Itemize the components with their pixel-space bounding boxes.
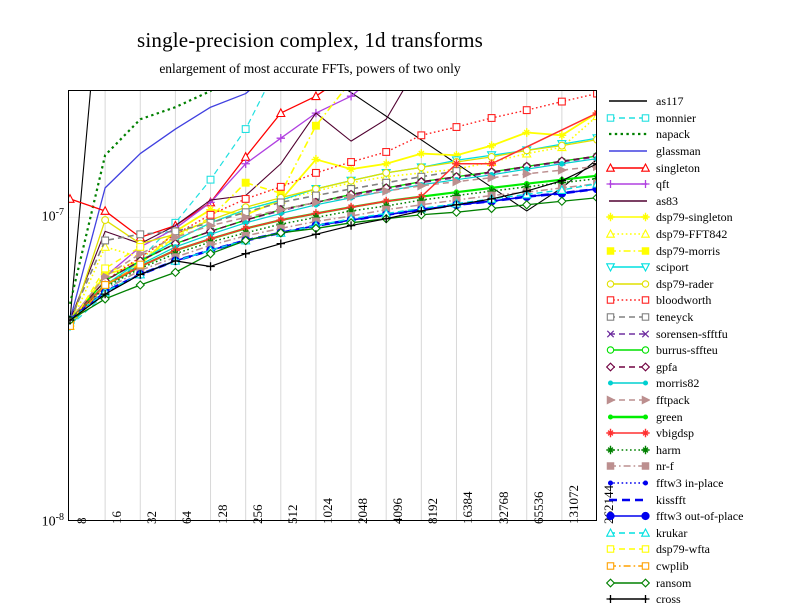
series-gpfa bbox=[69, 152, 596, 324]
legend-line-sample bbox=[606, 374, 650, 392]
legend-label: dsp79-FFT842 bbox=[656, 228, 727, 240]
legend-label: as117 bbox=[656, 95, 684, 107]
series-qft bbox=[69, 91, 390, 324]
legend-line-sample bbox=[606, 341, 650, 359]
legend-line-sample bbox=[606, 457, 650, 475]
legend-line-sample bbox=[606, 208, 650, 226]
legend-label: burrus-sffteu bbox=[656, 344, 718, 356]
legend-label: napack bbox=[656, 128, 690, 140]
y-axis-ticks: 10-710-8 bbox=[16, 90, 64, 521]
chart-figure: single-precision complex, 1d transforms … bbox=[0, 0, 792, 612]
legend-label: teneyck bbox=[656, 311, 693, 323]
legend-line-sample bbox=[606, 92, 650, 110]
legend-line-sample bbox=[606, 291, 650, 309]
legend-line-sample bbox=[606, 142, 650, 160]
legend-line-sample bbox=[606, 258, 650, 276]
x-tick-label: 65536 bbox=[531, 492, 547, 525]
legend-line-sample bbox=[606, 557, 650, 575]
legend-label: kissfft bbox=[656, 494, 686, 506]
legend-line-sample bbox=[606, 159, 650, 177]
legend-line-sample bbox=[606, 308, 650, 326]
series-fftw3-in-place bbox=[69, 187, 596, 323]
x-tick-label: 1024 bbox=[320, 498, 336, 524]
legend-label: fftpack bbox=[656, 394, 690, 406]
plot-area bbox=[68, 90, 597, 521]
legend-label: ransom bbox=[656, 577, 691, 589]
legend-line-sample bbox=[606, 192, 650, 210]
legend-item[interactable]: cross bbox=[606, 590, 792, 608]
legend-label: sciport bbox=[656, 261, 689, 273]
y-tick-label: 10-7 bbox=[20, 207, 64, 226]
x-axis-ticks: 8163264128256512102420484096819216384327… bbox=[68, 524, 597, 604]
legend-line-sample bbox=[606, 474, 650, 492]
x-tick-label: 16 bbox=[109, 511, 125, 524]
legend-label: cross bbox=[656, 593, 681, 605]
x-tick-label: 32 bbox=[144, 511, 160, 524]
series-sorensen-sfftfu bbox=[69, 153, 596, 323]
chart-title: single-precision complex, 1d transforms bbox=[0, 28, 620, 53]
legend-label: singleton bbox=[656, 162, 700, 174]
x-tick-label: 4096 bbox=[390, 498, 406, 524]
x-tick-label: 32768 bbox=[496, 492, 512, 525]
legend-line-sample bbox=[606, 507, 650, 525]
series-dsp79-rader bbox=[69, 136, 596, 329]
legend-label: dsp79-morris bbox=[656, 245, 720, 257]
legend-label: as83 bbox=[656, 195, 678, 207]
legend-label: harm bbox=[656, 444, 681, 456]
legend-label: fftw3 in-place bbox=[656, 477, 723, 489]
legend-line-sample bbox=[606, 590, 650, 608]
series-kissfft bbox=[70, 189, 596, 320]
series-dsp79-singleton bbox=[69, 109, 596, 331]
legend-line-sample bbox=[606, 540, 650, 558]
legend-label: morris82 bbox=[656, 377, 699, 389]
x-tick-label: 128 bbox=[215, 505, 231, 525]
legend-label: dsp79-rader bbox=[656, 278, 713, 290]
legend-line-sample bbox=[606, 358, 650, 376]
legend-label: glassman bbox=[656, 145, 701, 157]
legend-line-sample bbox=[606, 491, 650, 509]
legend-line-sample bbox=[606, 125, 650, 143]
x-tick-label: 8 bbox=[74, 518, 90, 525]
legend-label: dsp79-wfta bbox=[656, 543, 710, 555]
chart-legend: as117monniernapackglassmansingletonqftas… bbox=[606, 92, 792, 607]
series-dsp79-fft842 bbox=[69, 112, 596, 329]
x-tick-label: 512 bbox=[285, 505, 301, 525]
x-tick-label: 256 bbox=[250, 505, 266, 525]
chart-subtitle: enlargement of most accurate FFTs, power… bbox=[0, 61, 620, 77]
legend-line-sample bbox=[606, 391, 650, 409]
legend-label: sorensen-sfftfu bbox=[656, 328, 728, 340]
legend-line-sample bbox=[606, 109, 650, 127]
series-teneyck bbox=[69, 168, 460, 324]
y-tick-label: 10-8 bbox=[20, 512, 64, 531]
legend-line-sample bbox=[606, 325, 650, 343]
legend-label: fftw3 out-of-place bbox=[656, 510, 743, 522]
legend-label: krukar bbox=[656, 527, 687, 539]
legend-line-sample bbox=[606, 524, 650, 542]
legend-line-sample bbox=[606, 242, 650, 260]
legend-label: qft bbox=[656, 178, 669, 190]
legend-label: monnier bbox=[656, 112, 696, 124]
legend-line-sample bbox=[606, 574, 650, 592]
legend-line-sample bbox=[606, 175, 650, 193]
x-tick-label: 16384 bbox=[460, 492, 476, 525]
legend-label: cwplib bbox=[656, 560, 689, 572]
series-burrus-sffteu bbox=[69, 153, 596, 324]
x-tick-label: 64 bbox=[179, 511, 195, 524]
series-vbigdsp bbox=[69, 109, 596, 325]
legend-line-sample bbox=[606, 441, 650, 459]
series-napack bbox=[70, 91, 246, 304]
x-tick-label: 2048 bbox=[355, 498, 371, 524]
data-series-layer bbox=[69, 91, 596, 520]
x-tick-label: 131072 bbox=[566, 485, 582, 524]
legend-label: green bbox=[656, 411, 683, 423]
legend-line-sample bbox=[606, 424, 650, 442]
legend-label: dsp79-singleton bbox=[656, 211, 733, 223]
x-tick-label: 8192 bbox=[425, 498, 441, 524]
legend-line-sample bbox=[606, 275, 650, 293]
legend-label: nr-f bbox=[656, 460, 674, 472]
legend-line-sample bbox=[606, 408, 650, 426]
series-ransom bbox=[69, 194, 596, 324]
legend-label: gpfa bbox=[656, 361, 677, 373]
legend-label: vbigdsp bbox=[656, 427, 694, 439]
legend-line-sample bbox=[606, 225, 650, 243]
legend-label: bloodworth bbox=[656, 294, 711, 306]
